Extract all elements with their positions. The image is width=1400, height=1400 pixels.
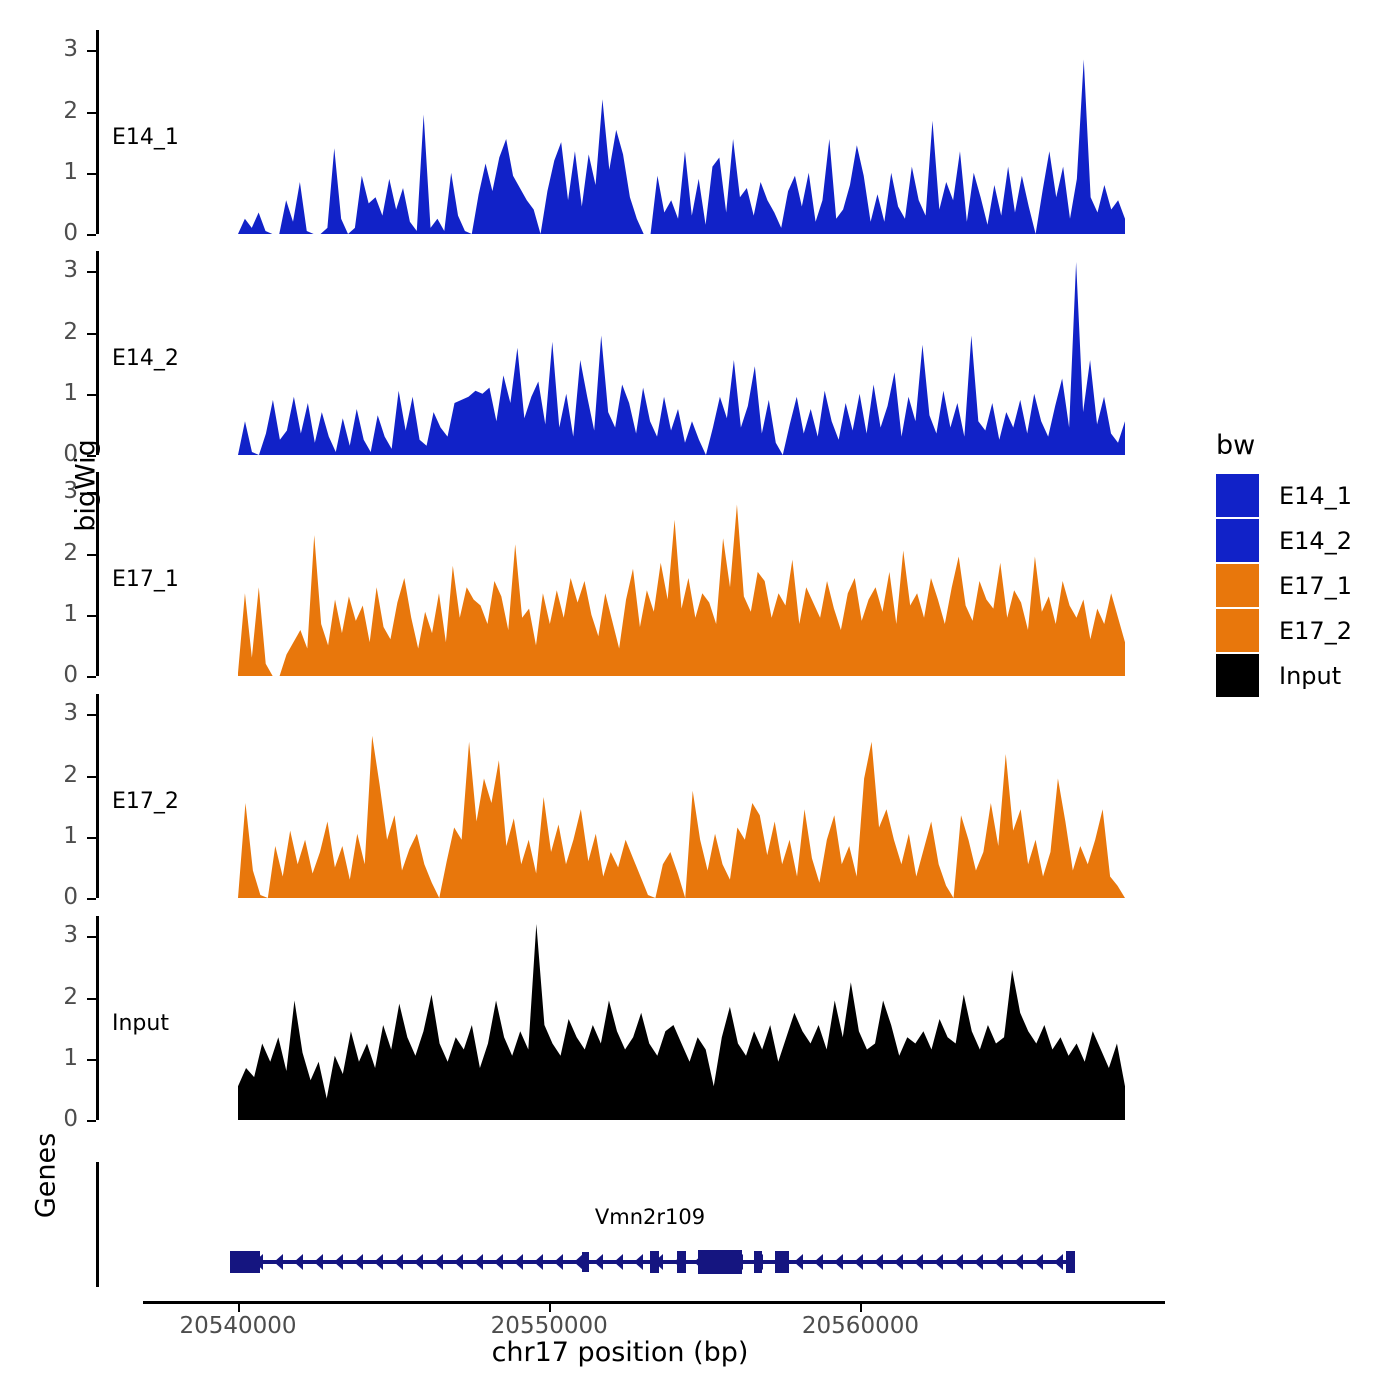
y-tick bbox=[87, 714, 96, 716]
y-tick-label: 0 bbox=[18, 886, 78, 909]
y-tick bbox=[87, 898, 96, 900]
y-tick bbox=[87, 554, 96, 556]
signal-track-e17_2 bbox=[99, 694, 1134, 898]
track-panel-e17_1: 0123E17_1 bbox=[96, 472, 1141, 676]
y-tick bbox=[87, 936, 96, 938]
y-tick bbox=[87, 1059, 96, 1061]
y-tick-label: 2 bbox=[18, 100, 78, 123]
legend-title: bw bbox=[1216, 432, 1352, 459]
y-tick-label: 2 bbox=[18, 542, 78, 565]
signal-track-e14_2 bbox=[99, 251, 1134, 455]
x-axis-line bbox=[143, 1301, 1165, 1304]
y-tick-label: 3 bbox=[18, 480, 78, 503]
y-tick-label: 1 bbox=[18, 603, 78, 626]
legend-swatch bbox=[1216, 609, 1259, 652]
legend-items: E14_1E14_2E17_1E17_2Input bbox=[1216, 473, 1352, 698]
signal-track-e14_1 bbox=[99, 30, 1134, 234]
y-tick-label: 2 bbox=[18, 764, 78, 787]
y-tick-label: 0 bbox=[18, 664, 78, 687]
y-tick-label: 0 bbox=[18, 443, 78, 466]
track-panel-e17_2: 0123E17_2 bbox=[96, 694, 1141, 898]
y-tick bbox=[87, 998, 96, 1000]
x-tick bbox=[549, 1303, 551, 1312]
y-tick bbox=[87, 394, 96, 396]
legend-swatch bbox=[1216, 519, 1259, 562]
legend-label: Input bbox=[1279, 664, 1341, 688]
legend-item-input[interactable]: Input bbox=[1216, 653, 1352, 698]
y-tick bbox=[87, 776, 96, 778]
y-tick bbox=[87, 333, 96, 335]
track-panel-input: 0123Input bbox=[96, 916, 1141, 1120]
gene-name-label: Vmn2r109 bbox=[550, 1205, 750, 1229]
legend-swatch bbox=[1216, 654, 1259, 697]
x-axis-label: chr17 position (bp) bbox=[100, 1337, 1140, 1368]
x-tick bbox=[238, 1303, 240, 1312]
legend-label: E17_1 bbox=[1279, 574, 1352, 598]
x-tick-label: 20550000 bbox=[449, 1315, 649, 1338]
y-tick-label: 3 bbox=[18, 259, 78, 282]
y-tick-label: 3 bbox=[18, 702, 78, 725]
y-tick bbox=[87, 1120, 96, 1122]
y-tick bbox=[87, 615, 96, 617]
signal-track-e17_1 bbox=[99, 472, 1134, 676]
y-tick bbox=[87, 837, 96, 839]
legend-swatch bbox=[1216, 474, 1259, 517]
legend-item-e14_2[interactable]: E14_2 bbox=[1216, 518, 1352, 563]
y-tick bbox=[87, 455, 96, 457]
legend-item-e14_1[interactable]: E14_1 bbox=[1216, 473, 1352, 518]
legend: bw E14_1E14_2E17_1E17_2Input bbox=[1216, 432, 1352, 698]
y-tick-label: 2 bbox=[18, 321, 78, 344]
x-tick bbox=[860, 1303, 862, 1312]
y-tick-label: 1 bbox=[18, 161, 78, 184]
x-tick-label: 20540000 bbox=[138, 1315, 338, 1338]
y-tick-label: 2 bbox=[18, 986, 78, 1009]
legend-swatch bbox=[1216, 564, 1259, 607]
y-tick-label: 1 bbox=[18, 825, 78, 848]
legend-label: E17_2 bbox=[1279, 619, 1352, 643]
y-tick bbox=[87, 492, 96, 494]
y-tick bbox=[87, 50, 96, 52]
genes-axis-line bbox=[96, 1162, 99, 1287]
track-panel-e14_1: 0123E14_1 bbox=[96, 30, 1141, 234]
y-tick bbox=[87, 234, 96, 236]
track-panel-e14_2: 0123E14_2 bbox=[96, 251, 1141, 455]
legend-item-e17_1[interactable]: E17_1 bbox=[1216, 563, 1352, 608]
legend-label: E14_2 bbox=[1279, 529, 1352, 553]
y-tick-label: 1 bbox=[18, 382, 78, 405]
signal-track-input bbox=[99, 916, 1134, 1120]
legend-item-e17_2[interactable]: E17_2 bbox=[1216, 608, 1352, 653]
y-tick bbox=[87, 676, 96, 678]
y-tick bbox=[87, 112, 96, 114]
y-tick-label: 3 bbox=[18, 38, 78, 61]
y-tick bbox=[87, 271, 96, 273]
y-tick-label: 1 bbox=[18, 1047, 78, 1070]
legend-label: E14_1 bbox=[1279, 484, 1352, 508]
y-tick bbox=[87, 173, 96, 175]
x-tick-label: 20560000 bbox=[760, 1315, 960, 1338]
y-tick-label: 0 bbox=[18, 222, 78, 245]
gene-model[interactable] bbox=[230, 1248, 1080, 1276]
y-tick-label: 0 bbox=[18, 1108, 78, 1131]
y-tick-label: 3 bbox=[18, 924, 78, 947]
